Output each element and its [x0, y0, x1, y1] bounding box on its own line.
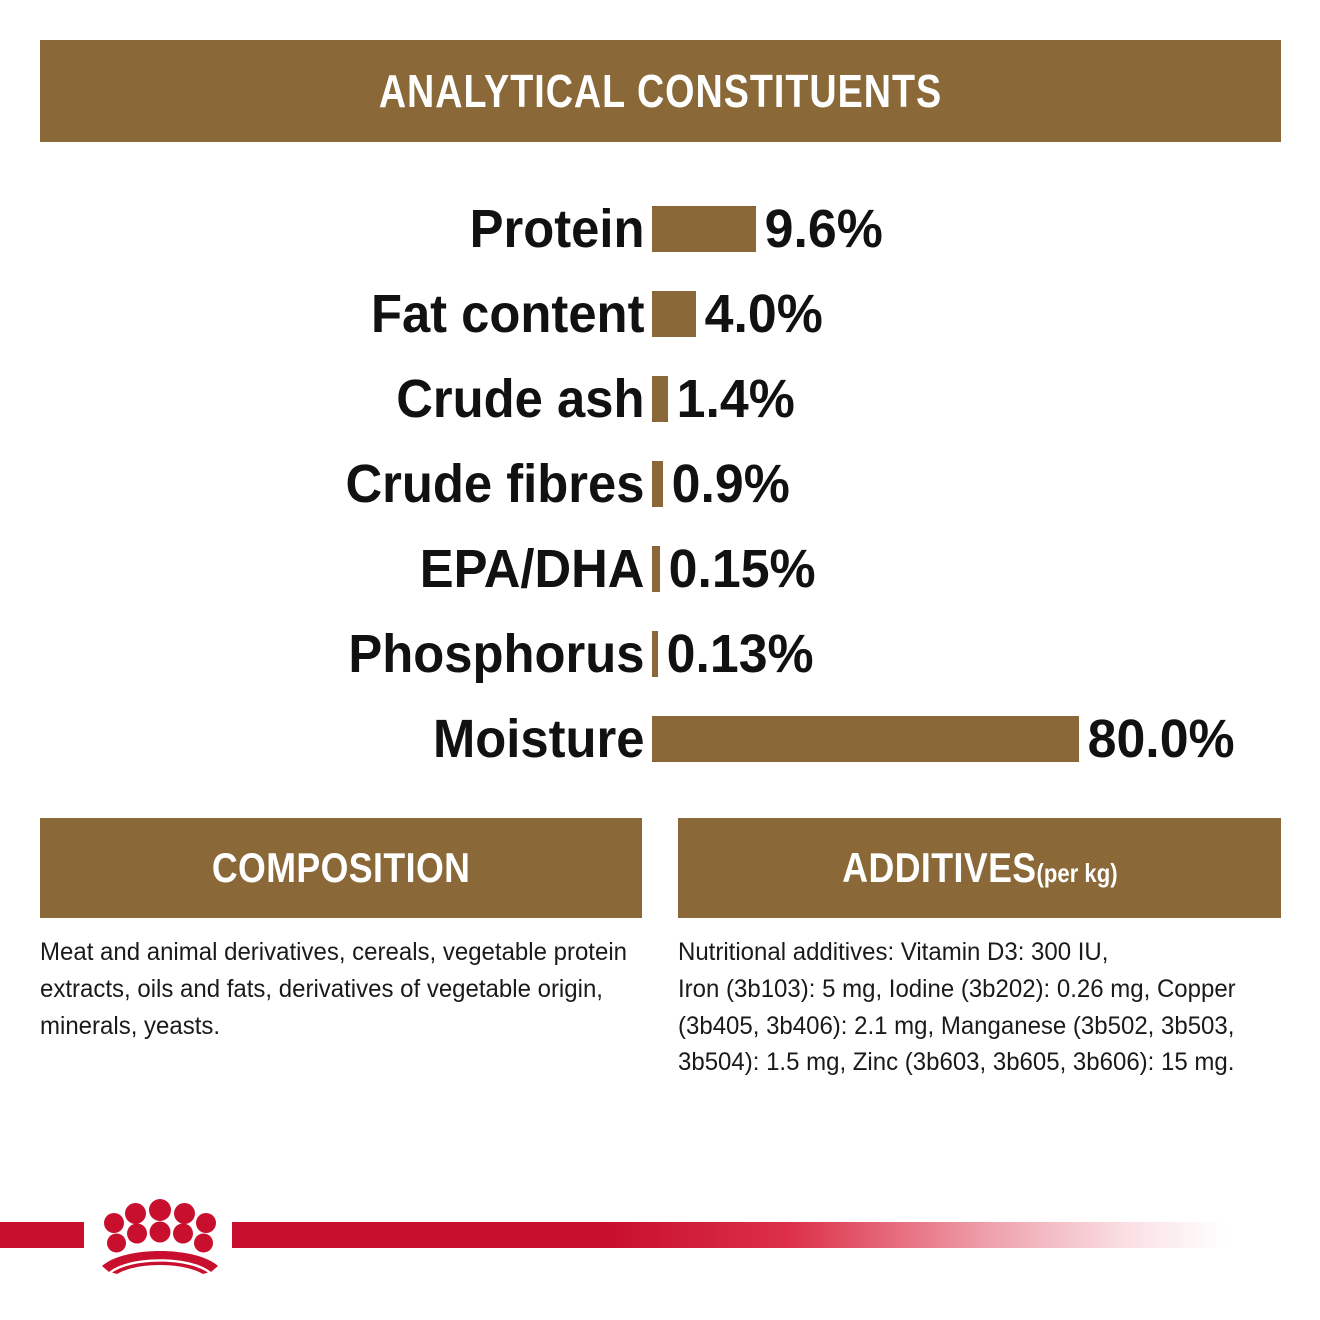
composition-body: Meat and animal derivatives, cereals, ve…	[40, 934, 645, 1044]
constituent-bar	[652, 291, 696, 337]
constituent-row: Moisture80.0%	[0, 696, 1320, 781]
footer-rule-right	[232, 1222, 1227, 1248]
constituent-row: EPA/DHA0.15%	[0, 526, 1320, 611]
constituent-row: Protein9.6%	[0, 186, 1320, 271]
constituent-bar	[652, 376, 668, 422]
royal-canin-crown-icon	[90, 1196, 230, 1274]
footer-rule-left	[0, 1222, 84, 1248]
constituent-row: Crude fibres0.9%	[0, 441, 1320, 526]
constituent-row: Fat content4.0%	[0, 271, 1320, 356]
constituent-label: Phosphorus	[39, 627, 652, 681]
page-title: ANALYTICAL CONSTITUENTS	[379, 64, 942, 118]
constituent-label: Fat content	[39, 287, 652, 341]
composition-banner: COMPOSITION	[40, 818, 642, 918]
constituent-label: Protein	[39, 202, 652, 256]
constituents-bar-chart: Protein9.6%Fat content4.0%Crude ash1.4%C…	[0, 186, 1320, 781]
constituent-row: Phosphorus0.13%	[0, 611, 1320, 696]
constituent-bar	[652, 206, 756, 252]
constituent-label: Crude fibres	[39, 457, 652, 511]
additives-heading-suffix: (per kg)	[1036, 858, 1117, 888]
additives-body: Nutritional additives: Vitamin D3: 300 I…	[678, 934, 1283, 1081]
constituent-row: Crude ash1.4%	[0, 356, 1320, 441]
analytical-constituents-banner: ANALYTICAL CONSTITUENTS	[40, 40, 1281, 142]
additives-heading: ADDITIVES(per kg)	[842, 844, 1117, 892]
constituent-value: 0.13%	[658, 627, 814, 681]
constituent-value: 0.9%	[663, 457, 790, 511]
additives-heading-main: ADDITIVES	[842, 844, 1036, 891]
constituent-label: EPA/DHA	[39, 542, 652, 596]
constituent-bar	[652, 461, 663, 507]
constituent-value: 0.15%	[660, 542, 816, 596]
constituent-label: Crude ash	[39, 372, 652, 426]
nutrition-panel: ANALYTICAL CONSTITUENTS Protein9.6%Fat c…	[0, 0, 1320, 1320]
constituent-bar	[652, 716, 1079, 762]
constituent-value: 80.0%	[1079, 712, 1235, 766]
footer	[0, 1208, 1320, 1246]
constituent-bar	[652, 546, 660, 592]
constituent-label: Moisture	[39, 712, 652, 766]
constituent-value: 9.6%	[756, 202, 883, 256]
additives-text: Nutritional additives: Vitamin D3: 300 I…	[678, 934, 1283, 1081]
constituent-value: 4.0%	[696, 287, 823, 341]
constituent-value: 1.4%	[668, 372, 795, 426]
composition-text: Meat and animal derivatives, cereals, ve…	[40, 934, 645, 1044]
composition-heading: COMPOSITION	[212, 844, 471, 892]
additives-banner: ADDITIVES(per kg)	[678, 818, 1281, 918]
